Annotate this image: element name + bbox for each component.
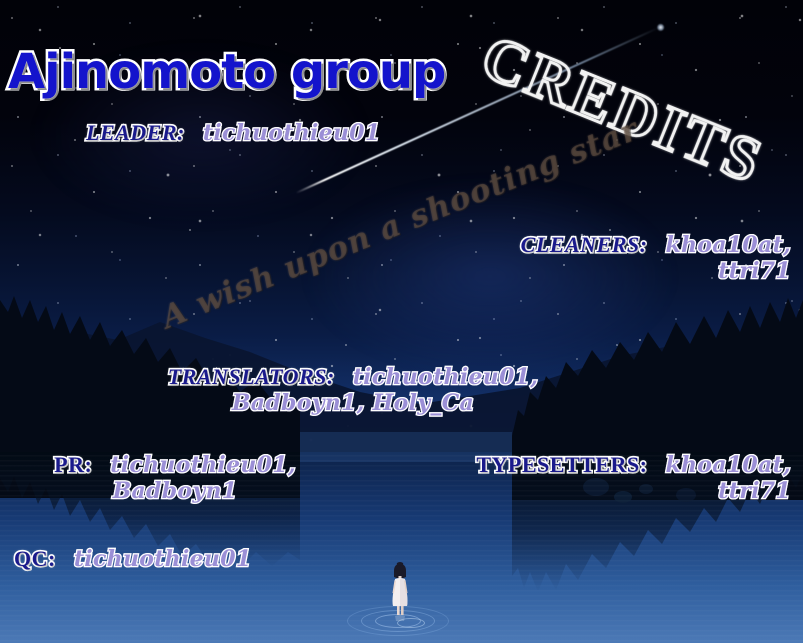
credit-translators-name-2: Badboyn1, Holy_Ca <box>232 390 474 416</box>
credit-translators: TRANSLATORS: tichuothieu01, Badboyn1, Ho… <box>163 364 543 417</box>
credits-page: Ajinomoto group CREDITS A wish upon a sh… <box>0 0 803 643</box>
credit-pr-line-1: PR: tichuothieu01, <box>50 452 300 479</box>
group-title: Ajinomoto group <box>8 44 445 100</box>
credit-leader-label: LEADER: <box>86 120 185 145</box>
credit-translators-label: TRANSLATORS: <box>168 364 335 389</box>
credit-translators-line-2: Badboyn1, Holy_Ca <box>163 391 543 417</box>
credit-typesetters-line-1: TYPESETTERS: khoa10at, <box>476 452 791 479</box>
credit-cleaners: CLEANERS: khoa10at, ttri71 <box>521 232 791 285</box>
credit-pr: PR: tichuothieu01, Badboyn1 <box>50 452 300 505</box>
credit-pr-name-1: tichuothieu01, <box>110 452 296 478</box>
credit-typesetters-label: TYPESETTERS: <box>476 452 647 477</box>
credit-leader: LEADER: tichuothieu01 <box>86 120 380 147</box>
credit-qc-names: tichuothieu01 <box>74 546 252 572</box>
credit-leader-names: tichuothieu01 <box>203 120 381 146</box>
credit-pr-label: PR: <box>54 452 92 477</box>
credit-qc-label: QC: <box>14 546 56 571</box>
credit-qc: QC: tichuothieu01 <box>14 546 251 573</box>
credit-typesetters-line-2: ttri71 <box>476 479 791 505</box>
credit-cleaners-name-2: ttri71 <box>718 258 791 284</box>
credit-cleaners-line-2: ttri71 <box>521 259 791 285</box>
credit-cleaners-label: CLEANERS: <box>521 232 648 257</box>
credit-pr-line-2: Badboyn1 <box>50 479 300 505</box>
credit-cleaners-line-1: CLEANERS: khoa10at, <box>521 232 791 259</box>
credit-pr-name-2: Badboyn1 <box>113 478 238 504</box>
credits-text-layer: Ajinomoto group CREDITS A wish upon a sh… <box>0 0 803 643</box>
credit-translators-line-1: TRANSLATORS: tichuothieu01, <box>163 364 543 391</box>
credit-cleaners-name-1: khoa10at, <box>665 232 791 258</box>
credit-typesetters: TYPESETTERS: khoa10at, ttri71 <box>476 452 791 505</box>
credit-typesetters-name-1: khoa10at, <box>665 452 791 478</box>
credit-translators-name-1: tichuothieu01, <box>353 364 539 390</box>
credit-typesetters-name-2: ttri71 <box>718 478 791 504</box>
